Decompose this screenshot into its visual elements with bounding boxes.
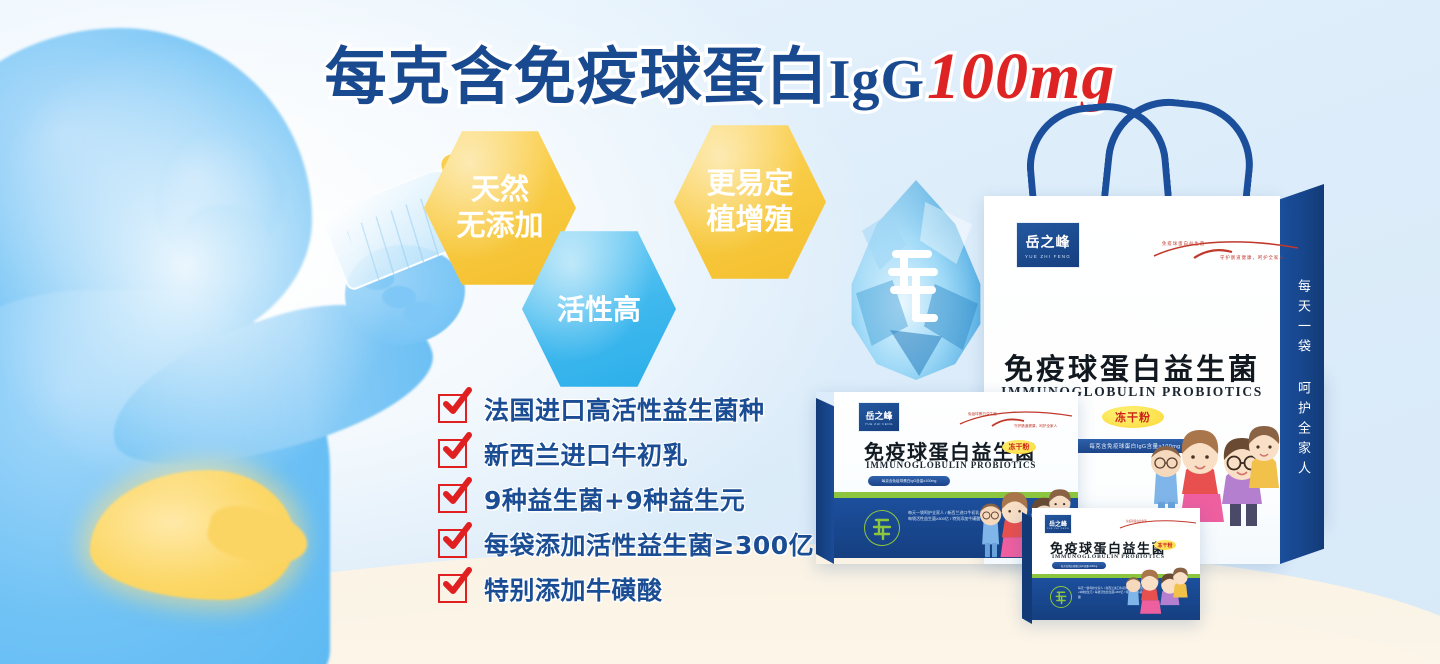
check-icon [438, 574, 467, 603]
svg-text:免疫球蛋白益生菌: 免疫球蛋白益生菌 [1162, 240, 1205, 247]
hexagon-line1: 更易定 [706, 168, 793, 200]
feature-label: 法国进口高活性益生菌种 [484, 391, 765, 427]
swoosh-graphic: 免疫球蛋白益生菌 守护肠道健康，呵护全家人 [1148, 234, 1304, 268]
feature-list: 法国进口高活性益生菌种 新西兰进口牛初乳 9种益生菌+9种益生元 每袋添加活性益… [438, 386, 814, 611]
box-spine [1022, 512, 1032, 624]
info-pill: 每克含免疫球蛋白IgG含量≥100mg [868, 476, 950, 486]
svg-text:守护肠道健康，呵护全家人: 守护肠道健康，呵护全家人 [1014, 423, 1058, 428]
svg-text:免疫球蛋白益生菌: 免疫球蛋白益生菌 [968, 411, 997, 416]
brand-logo-en: YUE ZHI FENG [1025, 254, 1071, 259]
brand-logo-en: YUE ZHI FENG [1047, 528, 1070, 530]
list-item: 9种益生菌+9种益生元 [438, 476, 814, 521]
hexagon-line2: 无添加 [456, 210, 543, 242]
brand-logo: 岳之峰 YUE ZHI FENG [1044, 514, 1072, 534]
check-icon [438, 484, 467, 513]
brand-logo: 岳之峰 YUE ZHI FENG [1016, 222, 1080, 268]
list-item: 法国进口高活性益生菌种 [438, 386, 814, 431]
feature-label: 9种益生菌+9种益生元 [484, 481, 745, 517]
intestine-icon [1050, 586, 1072, 608]
check-icon [438, 439, 467, 468]
hexagon-line1: 活性高 [557, 294, 641, 325]
feature-label: 每袋添加活性益生菌≥300亿 [484, 526, 814, 562]
list-item: 每袋添加活性益生菌≥300亿 [438, 521, 814, 566]
baby-chin [180, 205, 270, 285]
feature-label: 新西兰进口牛初乳 [484, 436, 688, 472]
brand-logo-cn: 岳之峰 [1049, 519, 1067, 528]
product-name-en: IMMUNOGLOBULIN PROBIOTICS [866, 460, 1036, 470]
crystal-water-drop [846, 180, 986, 380]
form-badge: 冻干粉 [1002, 440, 1036, 454]
info-pill: 每克含免疫球蛋白IgG含量≥100mg [1052, 562, 1106, 569]
intestine-icon [864, 510, 900, 546]
product-box-small: 岳之峰 YUE ZHI FENG 免疫球蛋白益生菌 免疫球蛋白益生菌 IMMUN… [1022, 508, 1200, 620]
headline-amount: 100mg [927, 40, 1115, 113]
swoosh-graphic: 免疫球蛋白益生菌 守护肠道健康，呵护全家人 [956, 406, 1076, 437]
swoosh-graphic: 免疫球蛋白益生菌 [1118, 516, 1198, 539]
list-item: 新西兰进口牛初乳 [438, 431, 814, 476]
intestine-icon [882, 238, 948, 330]
box-spine [816, 398, 834, 564]
check-icon [438, 529, 467, 558]
headline-chinese: 每克含免疫球蛋白 [325, 40, 829, 113]
list-item: 特别添加牛磺酸 [438, 566, 814, 611]
svg-text:守护肠道健康，呵护全家人: 守护肠道健康，呵护全家人 [1220, 254, 1285, 261]
svg-text:免疫球蛋白益生菌: 免疫球蛋白益生菌 [1126, 519, 1147, 523]
hexagon-line1: 天然 [471, 174, 529, 206]
feature-label: 特别添加牛磺酸 [484, 571, 663, 607]
product-name-cn: 免疫球蛋白益生菌 [984, 346, 1280, 388]
product-banner: 每克含免疫球蛋白IgG100mg 天然 无添加 活性高 更易定 植增殖 [0, 0, 1440, 664]
headline: 每克含免疫球蛋白IgG100mg [0, 26, 1440, 116]
hexagon-line2: 植增殖 [706, 204, 793, 236]
baby-finger [404, 302, 438, 324]
brand-logo: 岳之峰 YUE ZHI FENG [858, 402, 900, 432]
headline-igg: IgG [829, 49, 925, 111]
family-cartoon-illustration [1118, 560, 1190, 620]
brand-logo-cn: 岳之峰 [865, 409, 892, 422]
brand-logo-en: YUE ZHI FENG [865, 422, 893, 426]
brand-logo-cn: 岳之峰 [1026, 232, 1071, 252]
check-icon [438, 394, 467, 423]
form-badge: 冻干粉 [1154, 540, 1176, 550]
hexagon-badge-colonization: 更易定 植增殖 [674, 122, 826, 282]
